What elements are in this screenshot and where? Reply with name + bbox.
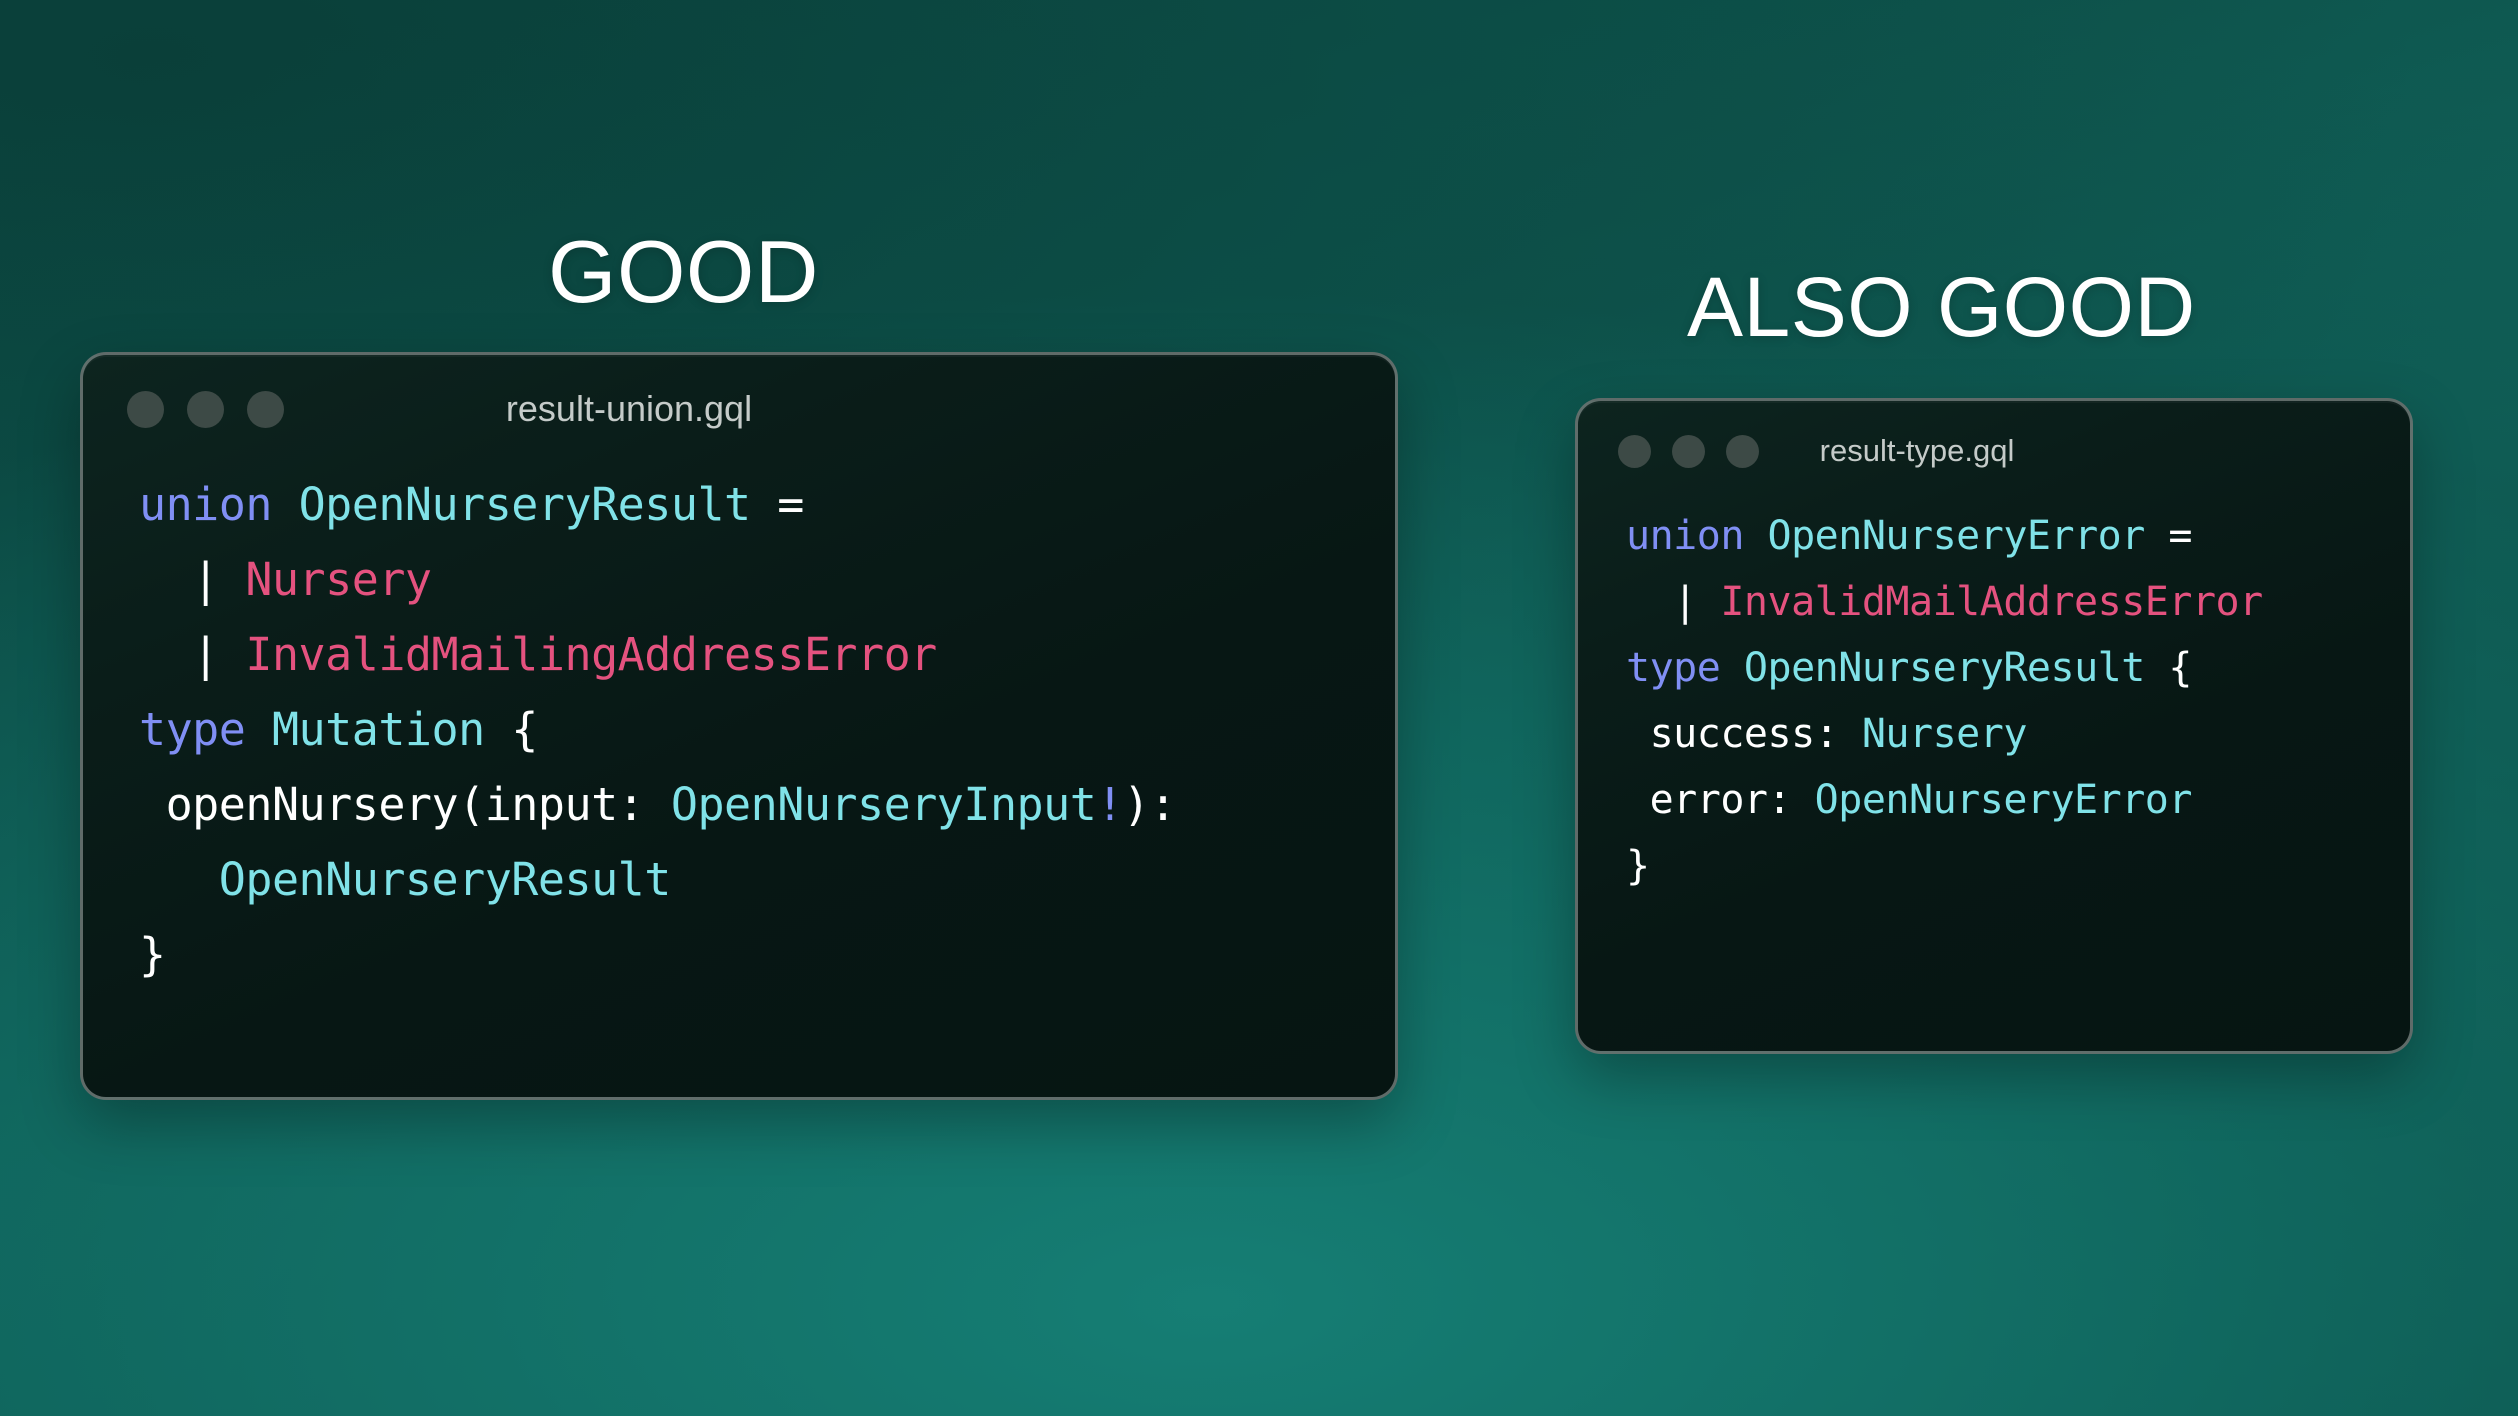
- window-titlebar[interactable]: result-union.gql: [83, 355, 1395, 463]
- code-token: InvalidMailingAddressError: [245, 628, 936, 681]
- code-line: openNursery(input: OpenNurseryInput!):: [139, 767, 1395, 842]
- code-token: InvalidMailAddressError: [1720, 579, 2262, 625]
- code-token: {: [2145, 645, 2192, 691]
- code-token: !: [1096, 778, 1123, 831]
- window-filename: result-union.gql: [80, 388, 1285, 430]
- code-line: type OpenNurseryResult {: [1626, 635, 2410, 701]
- code-line: error: OpenNurseryError: [1626, 767, 2410, 833]
- code-token: OpenNurseryError: [1815, 777, 2192, 823]
- code-line: }: [1626, 833, 2410, 899]
- code-line: | InvalidMailAddressError: [1626, 569, 2410, 635]
- code-token: OpenNurseryResult: [299, 478, 751, 531]
- code-token: [272, 478, 299, 531]
- code-token: ):: [1123, 778, 1176, 831]
- code-window-result-union[interactable]: result-union.gql union OpenNurseryResult…: [80, 352, 1398, 1100]
- code-token: union: [1626, 513, 1744, 559]
- code-token: OpenNurseryResult: [219, 853, 671, 906]
- code-token: |: [139, 553, 245, 606]
- code-line: success: Nursery: [1626, 701, 2410, 767]
- code-token: Nursery: [1862, 711, 2027, 757]
- window-titlebar[interactable]: result-type.gql: [1578, 401, 2410, 501]
- code-token: openNursery(input:: [139, 778, 671, 831]
- code-token: union: [139, 478, 272, 531]
- code-token: type: [139, 703, 245, 756]
- code-token: }: [139, 928, 166, 981]
- code-token: OpenNurseryError: [1768, 513, 2145, 559]
- heading-also-good: ALSO GOOD: [1687, 265, 2196, 349]
- heading-good: GOOD: [548, 228, 819, 316]
- code-token: }: [1626, 843, 1650, 889]
- code-window-result-type[interactable]: result-type.gql union OpenNurseryError =…: [1575, 398, 2413, 1054]
- code-line: }: [139, 917, 1395, 992]
- code-token: OpenNurseryInput: [671, 778, 1096, 831]
- code-block[interactable]: union OpenNurseryError = | InvalidMailAd…: [1578, 501, 2410, 899]
- code-line: union OpenNurseryError =: [1626, 503, 2410, 569]
- code-line: | Nursery: [139, 542, 1395, 617]
- code-token: Mutation: [272, 703, 485, 756]
- code-token: =: [751, 478, 804, 531]
- code-token: =: [2145, 513, 2192, 559]
- code-block[interactable]: union OpenNurseryResult = | Nursery | In…: [83, 463, 1395, 992]
- code-token: [1744, 513, 1768, 559]
- code-token: |: [1626, 579, 1720, 625]
- code-token: [139, 853, 219, 906]
- code-line: union OpenNurseryResult =: [139, 467, 1395, 542]
- code-line: OpenNurseryResult: [139, 842, 1395, 917]
- code-token: error:: [1626, 777, 1815, 823]
- code-line: | InvalidMailingAddressError: [139, 617, 1395, 692]
- code-token: type: [1626, 645, 1720, 691]
- code-token: OpenNurseryResult: [1744, 645, 2145, 691]
- code-token: |: [139, 628, 245, 681]
- code-token: Nursery: [245, 553, 431, 606]
- code-token: [245, 703, 272, 756]
- code-token: success:: [1626, 711, 1862, 757]
- code-line: type Mutation {: [139, 692, 1395, 767]
- slide-canvas: GOOD ALSO GOOD result-union.gql union Op…: [0, 0, 2518, 1416]
- window-filename: result-type.gql: [1575, 433, 2333, 469]
- code-token: [1720, 645, 1744, 691]
- code-token: {: [485, 703, 538, 756]
